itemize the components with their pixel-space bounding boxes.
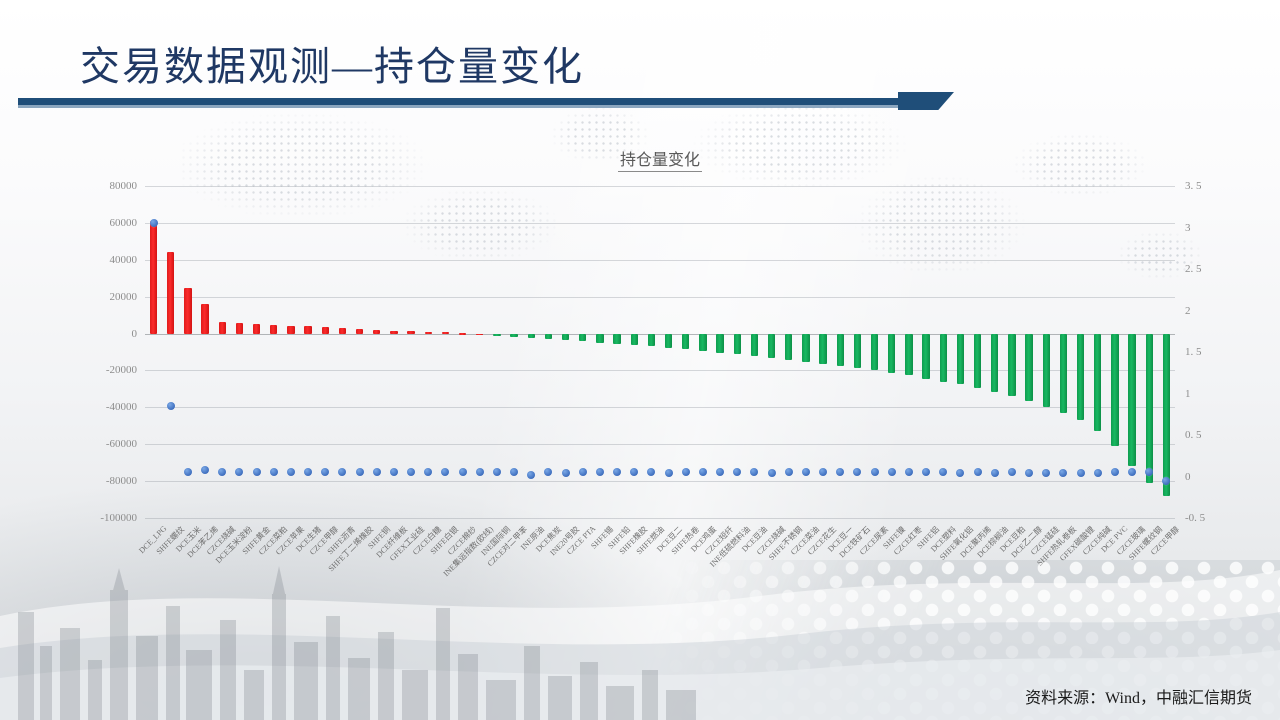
- chart-bar: [562, 334, 569, 340]
- y-axis-tick-label: -80000: [106, 475, 137, 487]
- title-underline: [18, 98, 918, 105]
- chart-marker-point: [991, 469, 999, 477]
- gridline: [145, 518, 1175, 519]
- chart-plot-area: 800006000040000200000-20000-40000-60000-…: [145, 186, 1175, 518]
- chart-bar: [201, 304, 208, 334]
- chart-marker-point: [304, 468, 312, 476]
- zero-axis-line: [145, 334, 1175, 335]
- chart-marker-point: [407, 468, 415, 476]
- chart-marker-point: [253, 468, 261, 476]
- chart-marker-point: [905, 468, 913, 476]
- chart-bar: [716, 334, 723, 353]
- chart-marker-point: [218, 468, 226, 476]
- page-title: 交易数据观测—持仓量变化: [80, 34, 584, 92]
- chart-bar: [888, 334, 895, 373]
- chart-marker-point: [836, 468, 844, 476]
- chart-marker-point: [1042, 469, 1050, 477]
- chart-marker-point: [630, 468, 638, 476]
- chart-marker-point: [201, 466, 209, 474]
- chart-bar: [236, 323, 243, 333]
- chart-bar: [493, 334, 500, 336]
- chart-bar: [785, 334, 792, 360]
- chart-bar: [442, 332, 449, 334]
- chart-marker-point: [150, 219, 158, 227]
- title-underline-secondary: [18, 105, 898, 108]
- chart-bar: [253, 324, 260, 333]
- chart-bar: [322, 327, 329, 333]
- chart-marker-point: [939, 468, 947, 476]
- chart-title: 持仓量变化: [90, 146, 1230, 170]
- y-axis-tick-label: -100000: [100, 512, 137, 524]
- chart-bar: [1094, 334, 1101, 432]
- title-underline-tail: [898, 92, 954, 110]
- chart-bar: [476, 334, 483, 336]
- chart-marker-point: [167, 402, 175, 410]
- chart-bar: [1008, 334, 1015, 397]
- chart-marker-point: [956, 469, 964, 477]
- chart-bar: [339, 328, 346, 334]
- chart-marker-point: [562, 469, 570, 477]
- chart-marker-point: [1094, 469, 1102, 477]
- chart-marker-point: [819, 468, 827, 476]
- chart-marker-point: [750, 468, 758, 476]
- chart-bar: [648, 334, 655, 347]
- gridline: [145, 260, 1175, 261]
- gridline: [145, 297, 1175, 298]
- chart-marker-point: [184, 468, 192, 476]
- chart-bar: [545, 334, 552, 339]
- y-axis-tick-label: 20000: [110, 291, 138, 303]
- chart-marker-point: [1059, 469, 1067, 477]
- chart-marker-point: [424, 468, 432, 476]
- chart-bar: [991, 334, 998, 392]
- chart-marker-point: [287, 468, 295, 476]
- chart-bar: [579, 334, 586, 342]
- secondary-y-axis-tick-label: 3. 5: [1185, 180, 1202, 192]
- chart-bar: [407, 331, 414, 333]
- chart-marker-point: [647, 468, 655, 476]
- secondary-y-axis-tick-label: -0. 5: [1185, 512, 1205, 524]
- chart-bar: [304, 326, 311, 333]
- chart-marker-point: [922, 468, 930, 476]
- y-axis-tick-label: 80000: [110, 180, 138, 192]
- chart-bar: [837, 334, 844, 366]
- y-axis-tick-label: -40000: [106, 401, 137, 413]
- y-axis-tick-label: 40000: [110, 254, 138, 266]
- chart-marker-point: [871, 468, 879, 476]
- chart-bar: [287, 326, 294, 334]
- chart-bar: [871, 334, 878, 371]
- chart-bar: [734, 334, 741, 355]
- chart-bar: [922, 334, 929, 379]
- chart-marker-point: [493, 468, 501, 476]
- chart-bar: [802, 334, 809, 362]
- secondary-y-axis-tick-label: 2: [1185, 305, 1191, 317]
- chart-marker-point: [1162, 477, 1170, 485]
- chart-marker-point: [1008, 468, 1016, 476]
- gridline: [145, 186, 1175, 187]
- chart-marker-point: [1025, 469, 1033, 477]
- chart-bar: [819, 334, 826, 364]
- chart-bar: [1060, 334, 1067, 413]
- chart-marker-point: [390, 468, 398, 476]
- y-axis-tick-label: 0: [132, 328, 138, 340]
- chart-bar: [1111, 334, 1118, 447]
- chart-bar: [905, 334, 912, 376]
- chart-marker-point: [270, 468, 278, 476]
- chart-marker-point: [1145, 468, 1153, 476]
- chart-marker-point: [441, 468, 449, 476]
- chart-marker-point: [853, 468, 861, 476]
- chart-bar: [1025, 334, 1032, 402]
- y-axis-tick-label: -60000: [106, 438, 137, 450]
- gridline: [145, 444, 1175, 445]
- chart-marker-point: [733, 468, 741, 476]
- chart-bar: [356, 329, 363, 333]
- chart-bar: [768, 334, 775, 359]
- chart-x-axis-labels: DCE_LPGSHFE螺纹DCE玉米DCE苯乙烯CZCE烧碱DCE玉米淀粉SHF…: [145, 524, 1175, 614]
- chart-marker-point: [476, 468, 484, 476]
- gridline: [145, 481, 1175, 482]
- chart-marker-point: [1111, 468, 1119, 476]
- holdings-change-chart: 持仓量变化 800006000040000200000-20000-40000-…: [90, 140, 1230, 590]
- chart-bar: [390, 331, 397, 334]
- chart-marker-point: [699, 468, 707, 476]
- chart-bar: [459, 333, 466, 335]
- chart-bar: [1128, 334, 1135, 467]
- chart-bar: [1163, 334, 1170, 496]
- chart-marker-point: [1128, 468, 1136, 476]
- chart-bar: [682, 334, 689, 349]
- chart-marker-point: [768, 469, 776, 477]
- y-axis-tick-label: 60000: [110, 217, 138, 229]
- secondary-y-axis-tick-label: 1. 5: [1185, 346, 1202, 358]
- chart-bar: [613, 334, 620, 344]
- chart-title-text: 持仓量变化: [618, 152, 702, 172]
- chart-marker-point: [682, 468, 690, 476]
- chart-bar: [167, 252, 174, 333]
- source-note: 资料来源：Wind，中融汇信期货: [1025, 684, 1252, 708]
- chart-marker-point: [665, 469, 673, 477]
- secondary-y-axis-tick-label: 0. 5: [1185, 429, 1202, 441]
- chart-bar: [1146, 334, 1153, 483]
- chart-bar: [270, 325, 277, 334]
- chart-marker-point: [373, 468, 381, 476]
- gridline: [145, 223, 1175, 224]
- chart-bar: [425, 332, 432, 334]
- chart-bar: [854, 334, 861, 368]
- chart-marker-point: [338, 468, 346, 476]
- chart-marker-point: [802, 468, 810, 476]
- secondary-y-axis-tick-label: 3: [1185, 222, 1191, 234]
- secondary-y-axis-tick-label: 2. 5: [1185, 263, 1202, 275]
- y-axis-tick-label: -20000: [106, 364, 137, 376]
- chart-bar: [528, 334, 535, 338]
- chart-marker-point: [321, 468, 329, 476]
- chart-bar: [150, 221, 157, 334]
- chart-bar: [631, 334, 638, 345]
- chart-marker-point: [356, 468, 364, 476]
- chart-bar: [510, 334, 517, 337]
- slide-title-band: 交易数据观测—持仓量变化: [0, 0, 1280, 112]
- chart-bar: [665, 334, 672, 348]
- chart-marker-point: [888, 468, 896, 476]
- chart-bar: [974, 334, 981, 389]
- secondary-y-axis-tick-label: 1: [1185, 388, 1191, 400]
- chart-bar: [184, 288, 191, 333]
- gridline: [145, 370, 1175, 371]
- chart-marker-point: [613, 468, 621, 476]
- chart-marker-point: [527, 471, 535, 479]
- gridline: [145, 407, 1175, 408]
- chart-bar: [699, 334, 706, 351]
- chart-bar: [940, 334, 947, 382]
- chart-marker-point: [544, 468, 552, 476]
- secondary-y-axis-tick-label: 0: [1185, 471, 1191, 483]
- chart-marker-point: [1077, 469, 1085, 477]
- chart-bar: [751, 334, 758, 357]
- chart-bar: [373, 330, 380, 334]
- chart-marker-point: [785, 468, 793, 476]
- chart-marker-point: [235, 468, 243, 476]
- chart-bar: [219, 322, 226, 333]
- chart-marker-point: [974, 468, 982, 476]
- chart-marker-point: [459, 468, 467, 476]
- chart-marker-point: [579, 468, 587, 476]
- chart-bar: [957, 334, 964, 385]
- chart-bar: [1043, 334, 1050, 407]
- chart-marker-point: [716, 468, 724, 476]
- chart-bar: [1077, 334, 1084, 421]
- chart-marker-point: [596, 468, 604, 476]
- chart-bar: [596, 334, 603, 343]
- chart-marker-point: [510, 468, 518, 476]
